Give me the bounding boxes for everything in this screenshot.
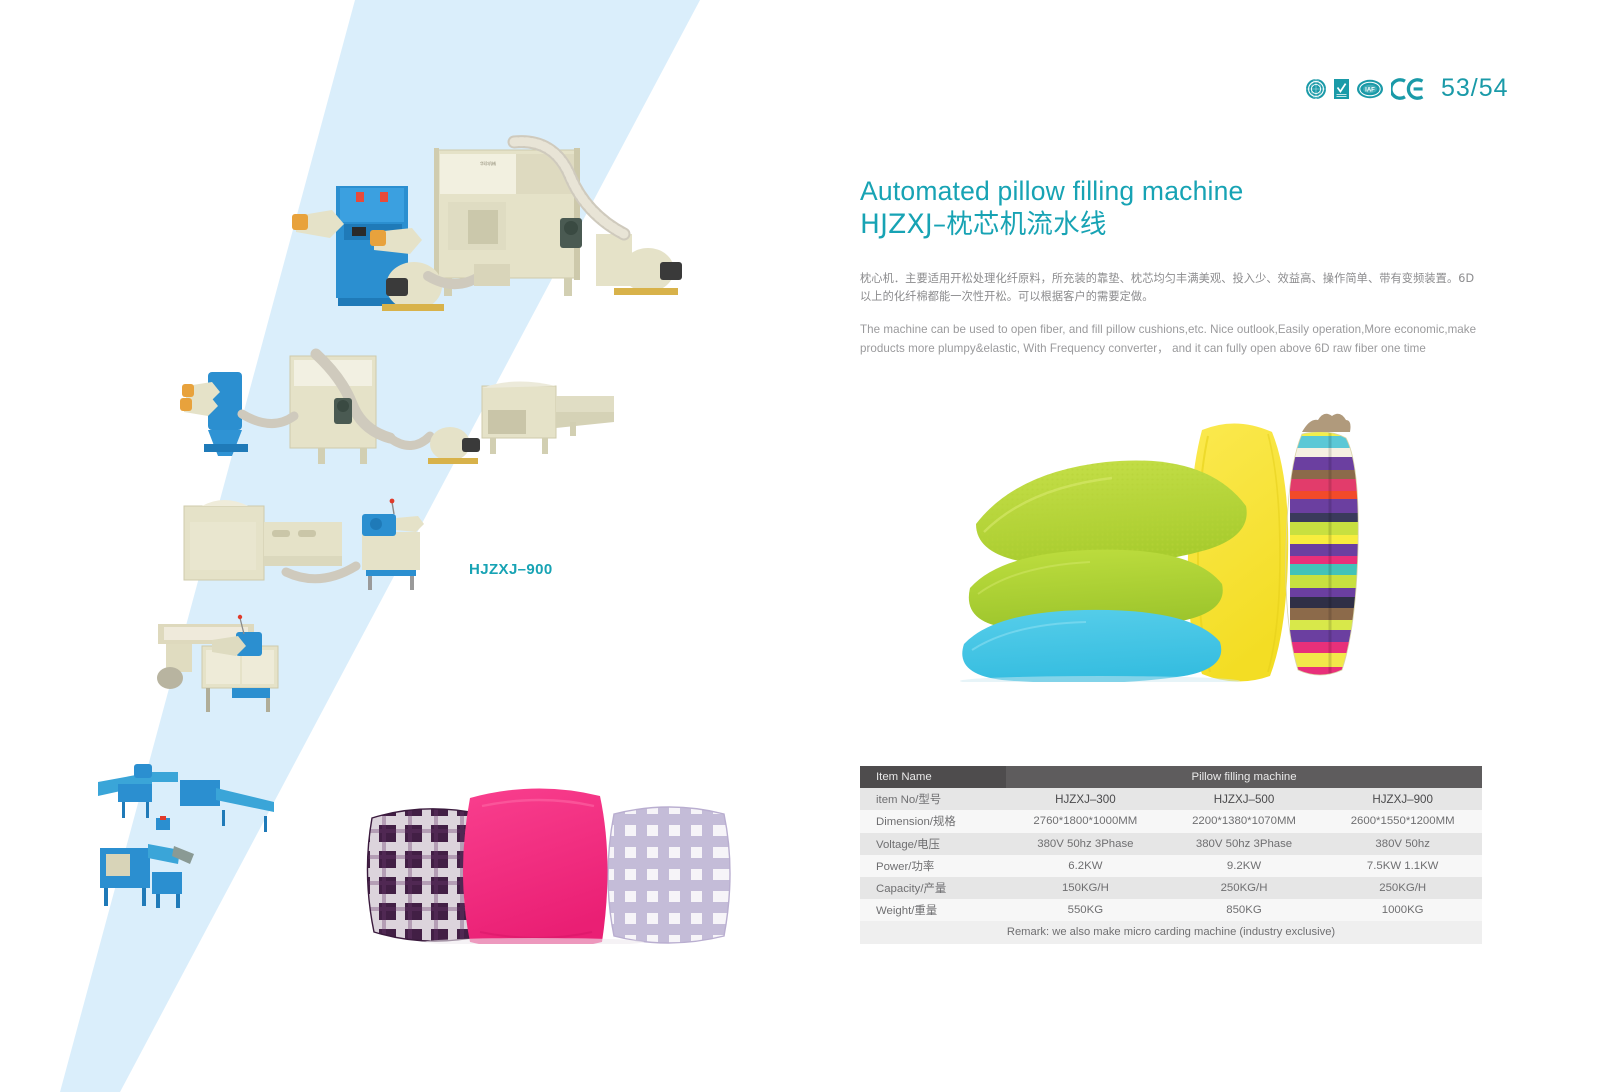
row-value: 380V 50hz: [1323, 833, 1482, 855]
table-row: Power/功率 6.2KW 9.2KW 7.5KW 1.1KW: [860, 855, 1482, 877]
row-value: HJZXJ–900: [1323, 788, 1482, 810]
row-value: 2600*1550*1200MM: [1323, 810, 1482, 832]
row-value: 2760*1800*1000MM: [1006, 810, 1165, 832]
iso-seal-icon: [1305, 78, 1327, 100]
table-row: Voltage/电压 380V 50hz 3Phase 380V 50hz 3P…: [860, 833, 1482, 855]
row-label: item No/型号: [860, 788, 1006, 810]
table-row: Dimension/规格 2760*1800*1000MM 2200*1380*…: [860, 810, 1482, 832]
page-number: 53/54: [1441, 76, 1509, 101]
row-value: 6.2KW: [1006, 855, 1165, 877]
svg-text:IAF: IAF: [1365, 87, 1375, 93]
row-value: 250KG/H: [1323, 877, 1482, 899]
baling-machine: [90, 828, 220, 913]
row-value: HJZXJ–500: [1165, 788, 1324, 810]
row-label: Power/功率: [860, 855, 1006, 877]
row-label: Voltage/电压: [860, 833, 1006, 855]
specification-table: Item Name Pillow filling machine item No…: [860, 766, 1482, 944]
cushion-trio-photo: [362, 772, 734, 944]
certification-bar: IAF 53/54: [1305, 76, 1509, 101]
svg-text:华珍机械: 华珍机械: [480, 160, 496, 166]
conveyor-line: [96, 760, 286, 835]
header-item-name: Item Name: [860, 766, 1006, 788]
carding-machine: [140, 610, 325, 730]
row-value: 2200*1380*1070MM: [1165, 810, 1324, 832]
production-line-hjzxj-900: [180, 492, 470, 592]
row-value: 1000KG: [1323, 899, 1482, 921]
product-title-cn: HJZXJ–枕芯机流水线: [860, 208, 1485, 241]
table-body: item No/型号 HJZXJ–300 HJZXJ–500 HJZXJ–900…: [860, 788, 1482, 943]
pillow-stack-photo: [950, 392, 1400, 682]
description-english: The machine can be used to open fiber, a…: [860, 320, 1485, 358]
row-value: 380V 50hz 3Phase: [1165, 833, 1324, 855]
header-product-span: Pillow filling machine: [1006, 766, 1482, 788]
production-line-hjzxj-500: [178, 348, 623, 488]
row-value: 150KG/H: [1006, 877, 1165, 899]
ce-mark-icon: [1391, 77, 1425, 101]
production-line-hjzxj-300: 华珍机械: [278, 128, 708, 338]
row-label: Dimension/规格: [860, 810, 1006, 832]
table-header-row: Item Name Pillow filling machine: [860, 766, 1482, 788]
row-value: 7.5KW 1.1KW: [1323, 855, 1482, 877]
product-title-en: Automated pillow filling machine: [860, 175, 1485, 208]
row-value: 550KG: [1006, 899, 1165, 921]
product-info-column: Automated pillow filling machine HJZXJ–枕…: [860, 175, 1485, 359]
featured-model-label: HJZXJ–900: [469, 561, 553, 578]
row-value: HJZXJ–300: [1006, 788, 1165, 810]
row-label: Weight/重量: [860, 899, 1006, 921]
check-mark-badge-icon: [1334, 78, 1349, 100]
table-row: item No/型号 HJZXJ–300 HJZXJ–500 HJZXJ–900: [860, 788, 1482, 810]
remark-text: Remark: we also make micro carding machi…: [860, 921, 1482, 943]
row-value: 9.2KW: [1165, 855, 1324, 877]
brochure-page: IAF 53/54 Automated pillow filling machi…: [0, 0, 1600, 1092]
description-chinese: 枕心机．主要适用开松处理化纤原料，所充装的靠垫、枕芯均匀丰满美观、投入少、效益高…: [860, 270, 1485, 306]
table-row: Capacity/产量 150KG/H 250KG/H 250KG/H: [860, 877, 1482, 899]
row-value: 250KG/H: [1165, 877, 1324, 899]
table-row: Weight/重量 550KG 850KG 1000KG: [860, 899, 1482, 921]
table-remark-row: Remark: we also make micro carding machi…: [860, 921, 1482, 943]
iaf-seal-icon: IAF: [1356, 78, 1384, 100]
row-label: Capacity/产量: [860, 877, 1006, 899]
row-value: 850KG: [1165, 899, 1324, 921]
row-value: 380V 50hz 3Phase: [1006, 833, 1165, 855]
